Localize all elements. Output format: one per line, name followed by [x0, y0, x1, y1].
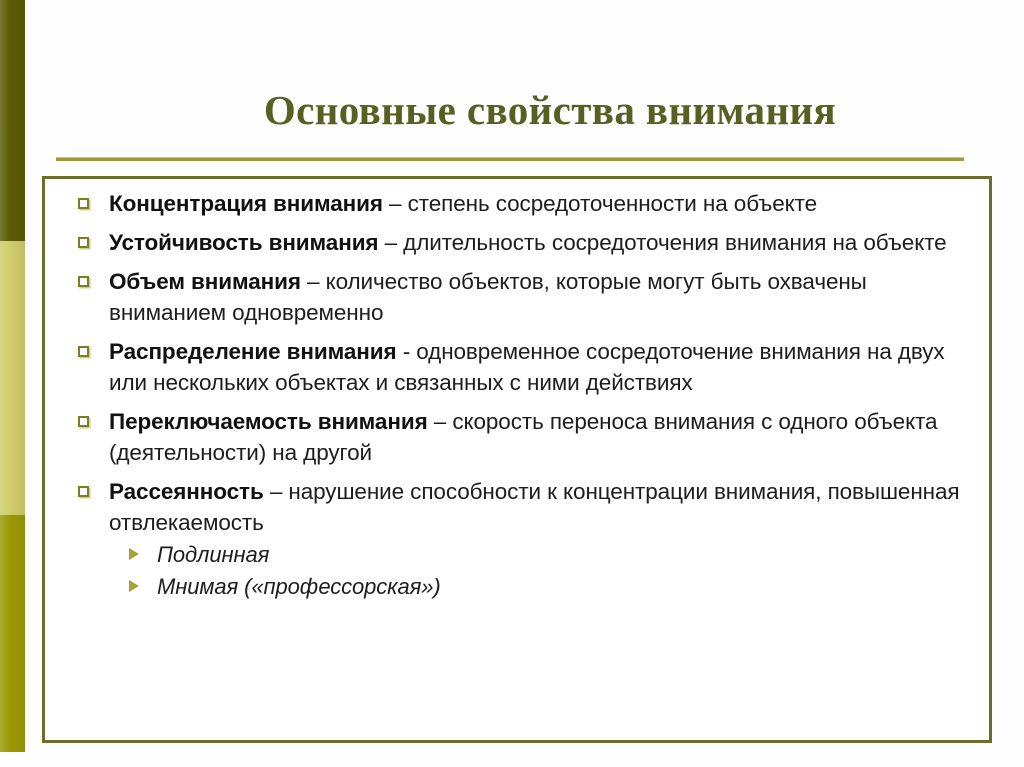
list-item: Переключаемость внимания – скорость пере… [59, 406, 975, 468]
bullet-term: Рассеянность [109, 479, 264, 504]
sub-list-item: Подлинная [109, 539, 975, 571]
sub-list-item: Мнимая («профессорская») [109, 571, 975, 603]
list-item: Рассеянность – нарушение способности к к… [59, 476, 975, 603]
square-bullet-icon [78, 416, 89, 427]
bullet-term: Устойчивость внимания [109, 230, 378, 255]
bullet-dash: – [378, 230, 403, 255]
bullet-term: Распределение внимания [109, 339, 397, 364]
sub-bullet-list: ПодлиннаяМнимая («профессорская») [109, 539, 975, 603]
slide-canvas: Основные свойства внимания Концентрация … [0, 0, 1024, 767]
bullet-dash: - [397, 339, 417, 364]
sidebar-band-middle [0, 241, 25, 515]
list-item: Устойчивость внимания – длительность сос… [59, 227, 975, 258]
arrow-bullet-icon [129, 548, 139, 560]
sub-bullet-label: Мнимая («профессорская») [157, 574, 441, 599]
bullet-definition: степень сосредоточенности на объекте [408, 191, 817, 216]
square-bullet-icon [78, 237, 89, 248]
list-item: Распределение внимания - одновременное с… [59, 336, 975, 398]
sidebar-band-bottom [0, 515, 25, 752]
square-bullet-icon [78, 346, 89, 357]
list-item: Концентрация внимания – степень сосредот… [59, 188, 975, 219]
square-bullet-icon [78, 486, 89, 497]
sidebar-decoration [0, 0, 25, 752]
bullet-dash: – [383, 191, 408, 216]
bullet-dash: – [428, 409, 453, 434]
sub-bullet-label: Подлинная [157, 542, 269, 567]
slide-title: Основные свойства внимания [120, 86, 980, 134]
square-bullet-icon [78, 276, 89, 287]
arrow-bullet-icon [129, 580, 139, 592]
list-item: Объем внимания – количество объектов, ко… [59, 266, 975, 328]
bullet-term: Концентрация внимания [109, 191, 383, 216]
bullet-definition: длительность сосредоточения внимания на … [403, 230, 946, 255]
sidebar-band-top [0, 0, 25, 241]
content-box: Концентрация внимания – степень сосредот… [42, 176, 992, 743]
bullet-list: Концентрация внимания – степень сосредот… [59, 188, 975, 603]
square-bullet-icon [78, 198, 89, 209]
bullet-dash: – [264, 479, 289, 504]
title-divider [56, 157, 964, 161]
bullet-term: Объем внимания [109, 269, 301, 294]
bullet-dash: – [301, 269, 326, 294]
bullet-term: Переключаемость внимания [109, 409, 428, 434]
